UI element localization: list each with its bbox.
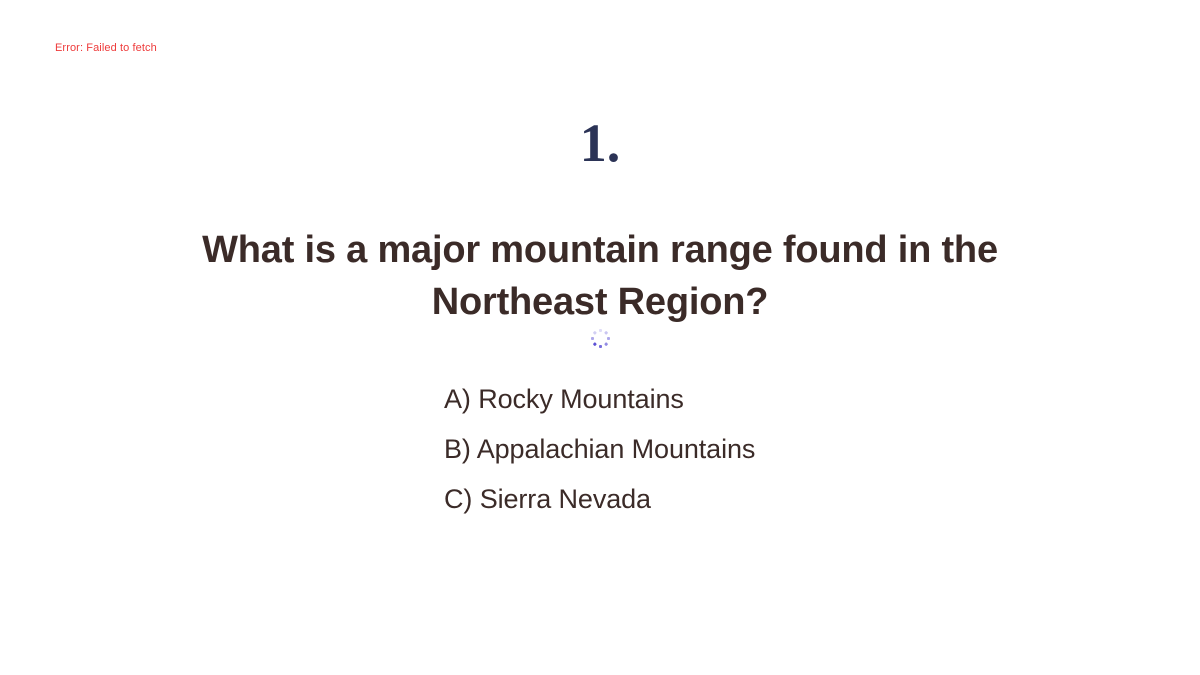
spinner-dot — [599, 329, 602, 332]
spinner-dot — [592, 330, 596, 334]
answer-option-b[interactable]: B) Appalachian Mountains — [444, 424, 1044, 474]
spinner-dot — [607, 337, 610, 340]
question-text: What is a major mountain range found in … — [180, 224, 1020, 328]
spinner-dot — [604, 342, 608, 346]
quiz-slide: 1. What is a major mountain range found … — [0, 0, 1200, 675]
spinner-dot — [592, 342, 596, 346]
question-number: 1. — [0, 112, 1200, 174]
spinner-dot — [591, 337, 594, 340]
answer-option-a[interactable]: A) Rocky Mountains — [444, 374, 1044, 424]
spinner-dot — [604, 330, 608, 334]
answer-option-c[interactable]: C) Sierra Nevada — [444, 474, 1044, 524]
spinner-dot — [599, 345, 602, 348]
spinner-icon — [589, 327, 611, 349]
answer-options: A) Rocky Mountains B) Appalachian Mounta… — [444, 374, 1044, 524]
